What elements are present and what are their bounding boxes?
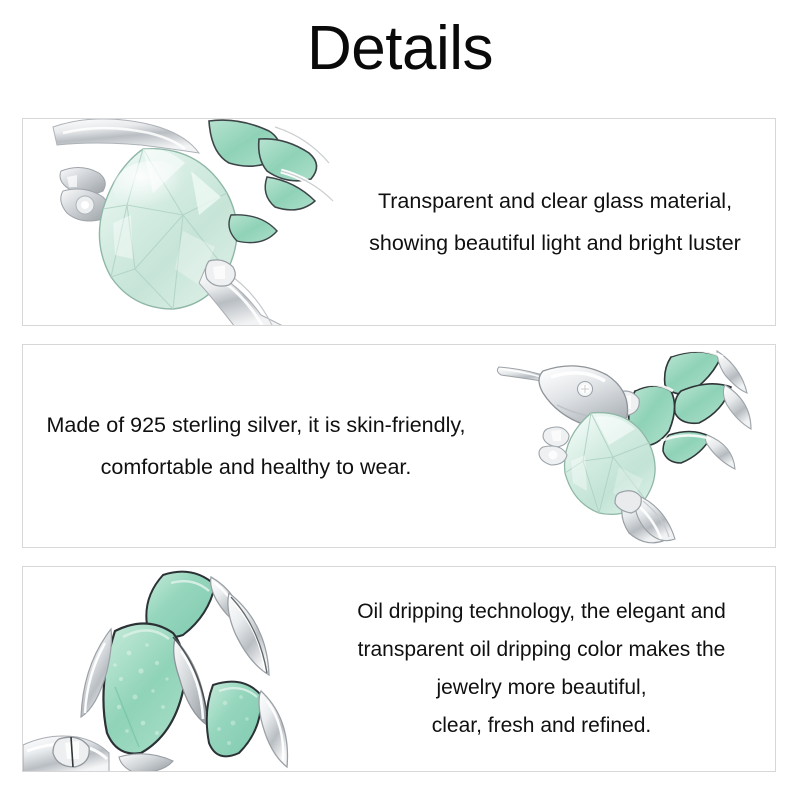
panel-3-line-3: jewelry more beautiful, xyxy=(316,669,767,707)
detail-panel-2: Made of 925 sterling silver, it is skin-… xyxy=(22,344,776,548)
hummingbird-charm-illustration xyxy=(485,345,775,547)
panel-1-line-2: showing beautiful light and bright luste… xyxy=(343,222,767,264)
detail-panel-3: Oil dripping technology, the elegant and… xyxy=(22,566,776,772)
panel-3-copy: Oil dripping technology, the elegant and… xyxy=(308,593,775,745)
detail-panel-1: Transparent and clear glass material, sh… xyxy=(22,118,776,326)
product-details-page: Details xyxy=(0,0,800,800)
enamel-wing-closeup-image xyxy=(23,567,308,771)
panel-3-line-1: Oil dripping technology, the elegant and xyxy=(316,593,767,631)
panel-2-line-2: comfortable and healthy to wear. xyxy=(31,446,481,488)
panel-1-copy: Transparent and clear glass material, sh… xyxy=(335,180,775,264)
panel-2-line-1: Made of 925 sterling silver, it is skin-… xyxy=(31,404,481,446)
panel-3-line-2: transparent oil dripping color makes the xyxy=(316,631,767,669)
panel-2-copy: Made of 925 sterling silver, it is skin-… xyxy=(23,404,485,488)
hummingbird-gem-closeup-image xyxy=(23,119,335,325)
gem-closeup-illustration xyxy=(23,119,335,325)
panel-1-line-1: Transparent and clear glass material, xyxy=(343,180,767,222)
page-title: Details xyxy=(0,18,800,80)
enamel-wing-illustration xyxy=(23,567,308,771)
hummingbird-full-charm-image xyxy=(485,345,775,547)
panel-3-line-4: clear, fresh and refined. xyxy=(316,707,767,745)
page-title-container: Details xyxy=(0,18,800,80)
